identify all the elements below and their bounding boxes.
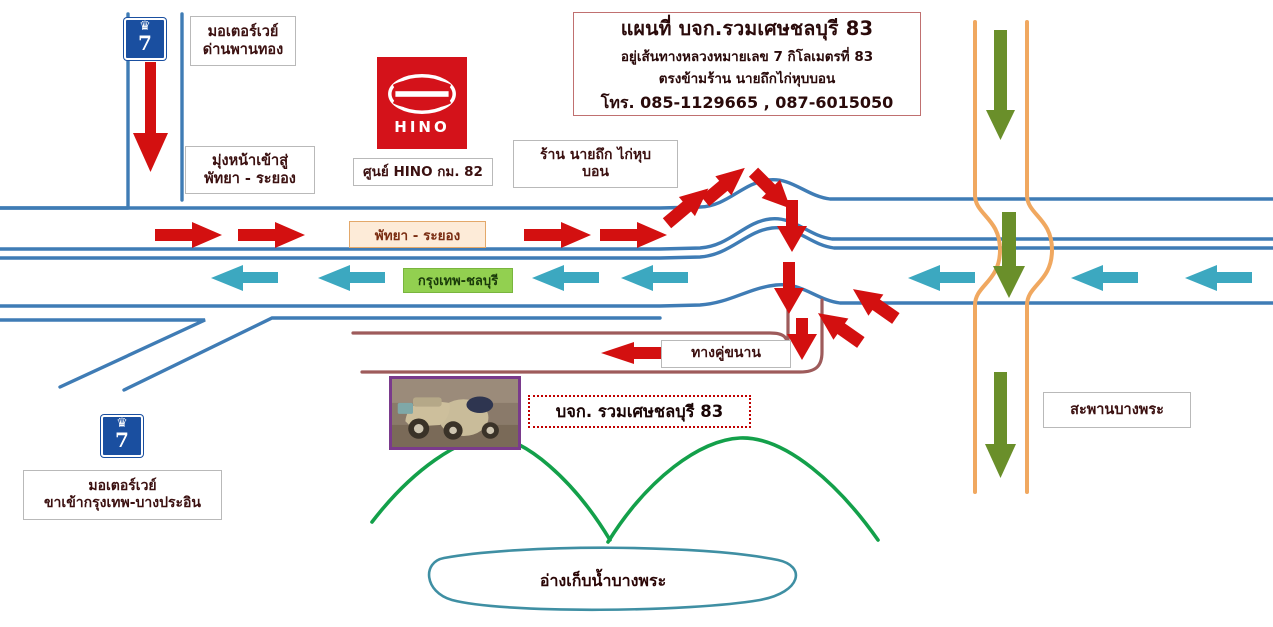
- arrow-cyan-left-7: [1185, 265, 1252, 291]
- label-company-name: บจก. รวมเศษชลบุรี 83: [528, 395, 751, 428]
- label-shop-line2: บอน: [520, 164, 671, 182]
- motorway-shield-7-top: ♛ 7: [124, 18, 166, 60]
- hino-wordmark: HINO: [394, 118, 449, 136]
- hill-left: [372, 437, 610, 540]
- label-motorway-top-line2: ด่านพานทอง: [197, 41, 289, 59]
- shield-number-top: 7: [138, 33, 152, 53]
- arrow-red-down-3: [787, 318, 817, 360]
- cyan-direction-arrows: [211, 265, 1252, 291]
- hills: [372, 437, 878, 542]
- label-heading-line1: มุ่งหน้าเข้าสู่: [192, 152, 308, 170]
- arrow-cyan-left-3: [532, 265, 599, 291]
- arrow-red-down-2: [774, 262, 804, 314]
- road-lower-south-edge: [0, 285, 1273, 306]
- hino-emblem-icon: [387, 71, 457, 117]
- label-reservoir: อ่างเก็บน้ำบางพระ: [503, 568, 703, 594]
- arrow-red-upright-2: [697, 158, 753, 211]
- arrow-red-right-2: [238, 222, 305, 248]
- company-name-text: บจก. รวมเศษชลบุรี 83: [556, 399, 724, 425]
- arrow-cyan-left-1: [211, 265, 278, 291]
- green-direction-arrows: [985, 30, 1025, 478]
- road-tag-bangkok-text: กรุงเทพ-ชลบุรี: [418, 270, 498, 291]
- arrow-red-right-1: [155, 222, 222, 248]
- label-parallel-road: ทางคู่ขนาน: [661, 340, 791, 368]
- label-shop-line1: ร้าน นายถึก ไก่หุบ: [520, 147, 671, 165]
- motorway-shield-7-bottom: ♛ 7: [101, 415, 143, 457]
- label-motorway-to-bangkok: มอเตอร์เวย์ ขาเข้ากรุงเทพ-บางประอิน: [23, 470, 222, 520]
- arrow-red-down-1: [777, 200, 807, 252]
- title-line-3: ตรงข้ามร้าน นายถึกไก่หุบบอน: [659, 67, 835, 89]
- arrow-green-down-3: [985, 372, 1016, 478]
- hino-logo: HINO: [377, 57, 467, 149]
- label-shop-nai-thuek: ร้าน นายถึก ไก่หุบ บอน: [513, 140, 678, 188]
- label-motorway-bottom-line2: ขาเข้ากรุงเทพ-บางประอิน: [30, 495, 215, 513]
- ramp-diagonal-outer: [0, 320, 205, 387]
- label-parallel-text: ทางคู่ขนาน: [668, 345, 784, 363]
- label-motorway-phan-thong: มอเตอร์เวย์ ด่านพานทอง: [190, 16, 296, 66]
- arrow-cyan-left-5: [908, 265, 975, 291]
- road-tag-pattaya-rayong: พัทยา - ระยอง: [349, 221, 486, 248]
- arrow-red-down-topleft: [133, 62, 168, 172]
- map-canvas: แผนที่ บจก.รวมเศษชลบุรี 83 อยู่เส้นทางหล…: [0, 0, 1273, 627]
- hill-right: [608, 438, 878, 542]
- label-heading-to-pattaya-rayong: มุ่งหน้าเข้าสู่ พัทยา - ระยอง: [185, 146, 315, 194]
- label-motorway-bottom-line1: มอเตอร์เวย์: [30, 478, 215, 496]
- arrow-cyan-left-6: [1071, 265, 1138, 291]
- arrow-cyan-left-4: [621, 265, 688, 291]
- arrow-green-down-1: [986, 30, 1015, 140]
- scooter-photo: [389, 376, 521, 450]
- shield-number-bottom: 7: [115, 430, 129, 450]
- label-bang-phra-bridge: สะพานบางพระ: [1043, 392, 1191, 428]
- arrow-cyan-left-2: [318, 265, 385, 291]
- label-reservoir-text: อ่างเก็บน้ำบางพระ: [540, 569, 666, 594]
- road-tag-bangkok-chonburi: กรุงเทพ-ชลบุรี: [403, 268, 513, 293]
- label-heading-line2: พัทยา - ระยอง: [192, 170, 308, 188]
- arrow-red-downleft-1: [811, 302, 869, 353]
- map-title-box: แผนที่ บจก.รวมเศษชลบุรี 83 อยู่เส้นทางหล…: [573, 12, 921, 116]
- title-phone-line: โทร. 085-1129665 , 087-6015050: [601, 91, 894, 116]
- label-hino-text: ศูนย์ HINO กม. 82: [360, 164, 486, 181]
- arrow-red-right-3: [524, 222, 591, 248]
- arrow-red-right-4: [600, 222, 667, 248]
- label-motorway-top-line1: มอเตอร์เวย์: [197, 23, 289, 41]
- title-line-1: แผนที่ บจก.รวมเศษชลบุรี 83: [621, 13, 874, 44]
- label-bridge-text: สะพานบางพระ: [1050, 401, 1184, 419]
- road-tag-pattaya-text: พัทยา - ระยอง: [375, 224, 460, 246]
- label-hino-center-km82: ศูนย์ HINO กม. 82: [353, 158, 493, 186]
- title-line-2: อยู่เส้นทางหลวงหมายเลข 7 กิโลเมตรที่ 83: [621, 45, 873, 67]
- scooter-photo-image: [392, 379, 518, 447]
